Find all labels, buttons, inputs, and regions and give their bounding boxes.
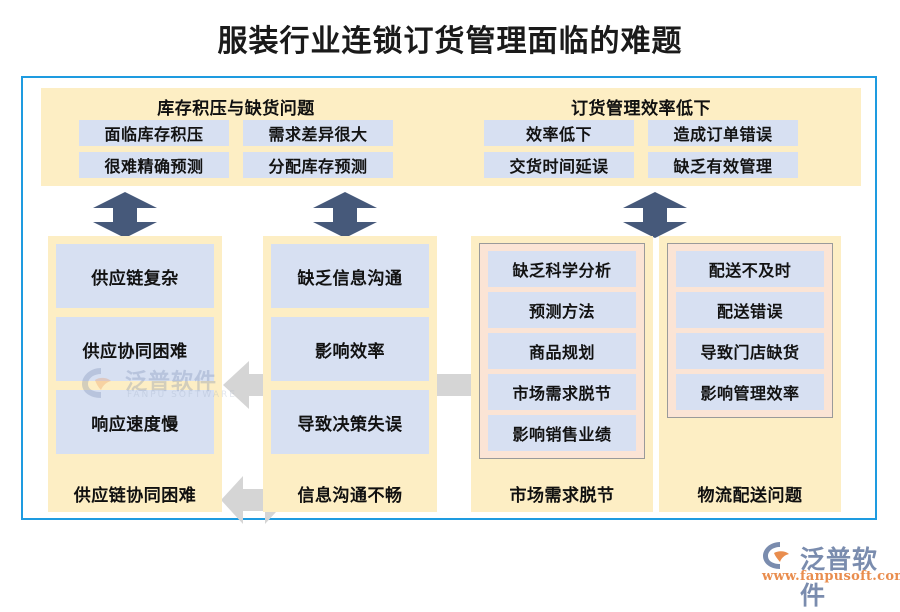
column-cells: 缺乏信息沟通 影响效率 导致决策失误: [271, 244, 429, 454]
top-cell[interactable]: 缺乏有效管理: [648, 152, 798, 178]
up-down-arrow-icon: [313, 192, 377, 238]
top-group-title: 订货管理效率低下: [461, 94, 821, 119]
top-cell[interactable]: 造成订单错误: [648, 120, 798, 146]
top-band: 库存积压与缺货问题 面临库存积压 需求差异很大 很难精确预测 分配库存预测 订货…: [41, 88, 861, 186]
top-group-title: 库存积压与缺货问题: [61, 94, 411, 119]
column-market-demand: 缺乏科学分析 预测方法 商品规划 市场需求脱节 影响销售业绩 市场需求脱节: [471, 236, 653, 512]
page-title: 服装行业连锁订货管理面临的难题: [0, 16, 900, 60]
top-group-order-efficiency: 订货管理效率低下 效率低下 造成订单错误 交货时间延误 缺乏有效管理: [461, 88, 821, 186]
top-cell[interactable]: 需求差异很大: [243, 120, 393, 146]
column-footer-label: 信息沟通不畅: [263, 481, 437, 506]
top-cell[interactable]: 交货时间延误: [484, 152, 634, 178]
diagram-frame: 库存积压与缺货问题 面临库存积压 需求差异很大 很难精确预测 分配库存预测 订货…: [21, 76, 877, 520]
column-cell[interactable]: 市场需求脱节: [488, 374, 636, 410]
column-supply-chain: 供应链复杂 供应协同困难 响应速度慢 供应链协同困难: [48, 236, 222, 512]
column-cell[interactable]: 预测方法: [488, 292, 636, 328]
logo-url: www.fanpusoft.com: [762, 569, 900, 584]
top-group-inventory: 库存积压与缺货问题 面临库存积压 需求差异很大 很难精确预测 分配库存预测: [61, 88, 411, 186]
top-group-cells: 效率低下 造成订单错误 交货时间延误 缺乏有效管理: [461, 120, 821, 178]
column-cells: 缺乏科学分析 预测方法 商品规划 市场需求脱节 影响销售业绩: [479, 243, 645, 459]
top-cell[interactable]: 效率低下: [484, 120, 634, 146]
top-cell[interactable]: 很难精确预测: [79, 152, 229, 178]
up-down-arrow-icon: [623, 192, 687, 238]
column-cell[interactable]: 缺乏科学分析: [488, 251, 636, 287]
column-cell[interactable]: 影响管理效率: [676, 374, 824, 410]
column-logistics: 配送不及时 配送错误 导致门店缺货 影响管理效率 物流配送问题: [659, 236, 841, 512]
column-footer-label: 市场需求脱节: [471, 481, 653, 506]
column-cell[interactable]: 商品规划: [488, 333, 636, 369]
column-cell[interactable]: 影响效率: [271, 317, 429, 381]
column-cell[interactable]: 配送不及时: [676, 251, 824, 287]
column-cell[interactable]: 导致决策失误: [271, 390, 429, 454]
column-cell[interactable]: 影响销售业绩: [488, 415, 636, 451]
column-cell[interactable]: 导致门店缺货: [676, 333, 824, 369]
top-cell[interactable]: 分配库存预测: [243, 152, 393, 178]
top-group-cells: 面临库存积压 需求差异很大 很难精确预测 分配库存预测: [61, 120, 411, 178]
column-cells: 配送不及时 配送错误 导致门店缺货 影响管理效率: [667, 243, 833, 418]
column-information: 缺乏信息沟通 影响效率 导致决策失误 信息沟通不畅: [263, 236, 437, 512]
column-cell[interactable]: 配送错误: [676, 292, 824, 328]
column-cell[interactable]: 响应速度慢: [56, 390, 214, 454]
up-down-arrow-icon: [93, 192, 157, 238]
column-cell[interactable]: 缺乏信息沟通: [271, 244, 429, 308]
column-cell[interactable]: 供应链复杂: [56, 244, 214, 308]
column-cells: 供应链复杂 供应协同困难 响应速度慢: [56, 244, 214, 454]
top-cell[interactable]: 面临库存积压: [79, 120, 229, 146]
column-footer-label: 物流配送问题: [659, 481, 841, 506]
column-cell[interactable]: 供应协同困难: [56, 317, 214, 381]
fanpu-logo: 泛普软件 www.fanpusoft.com: [762, 540, 888, 590]
column-footer-label: 供应链协同困难: [48, 481, 222, 506]
